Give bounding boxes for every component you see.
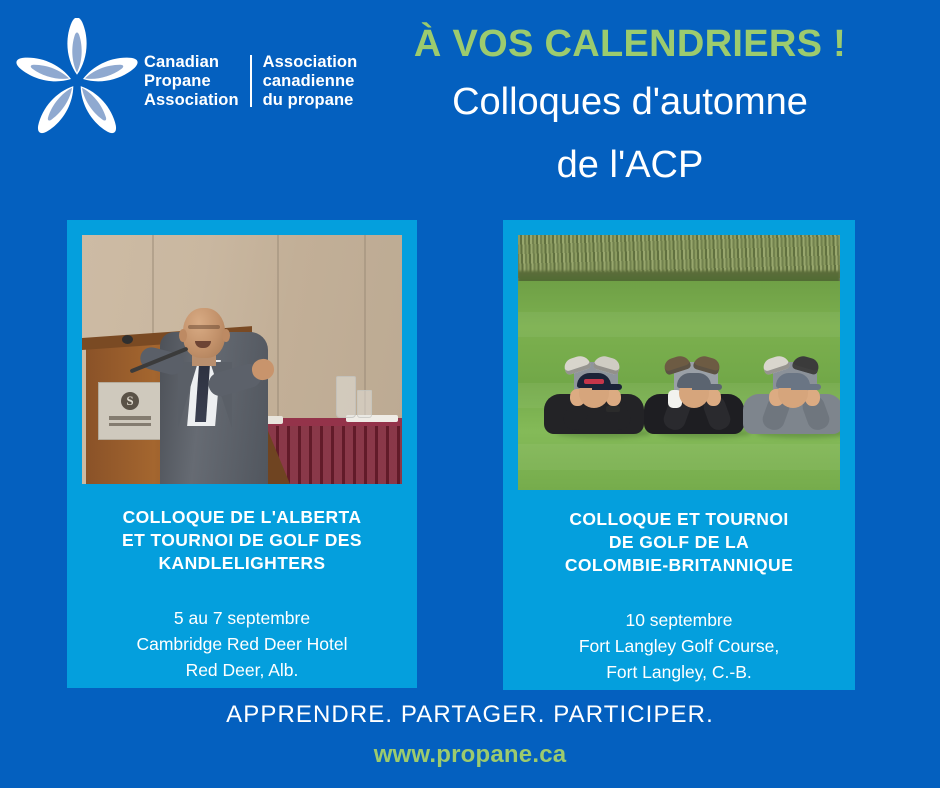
event-location: Fort Langley, C.-B. bbox=[522, 659, 836, 685]
wordmark-divider bbox=[250, 55, 252, 107]
event-location: Red Deer, Alb. bbox=[86, 657, 398, 683]
event-card-bc-details: 10 septembre Fort Langley Golf Course, F… bbox=[522, 607, 836, 685]
cpa-flower-logo-icon bbox=[14, 18, 140, 144]
event-date: 10 septembre bbox=[522, 607, 836, 633]
cpa-logo-block[interactable]: Canadian Propane Association Association… bbox=[14, 16, 324, 146]
event-venue: Fort Langley Golf Course, bbox=[522, 633, 836, 659]
event-date: 5 au 7 septembre bbox=[86, 605, 398, 631]
cpa-wordmark-en-line3: Association bbox=[144, 91, 239, 110]
cpa-wordmark-en-line1: Canadian bbox=[144, 53, 239, 72]
cpa-wordmark-en-line2: Propane bbox=[144, 72, 239, 91]
heading-line-1: COLLOQUE DE L'ALBERTA bbox=[86, 506, 398, 529]
footer-tagline: APPRENDRE. PARTAGER. PARTICIPER. bbox=[0, 700, 940, 730]
event-card-colombie-britannique[interactable]: COLLOQUE ET TOURNOI DE GOLF DE LA COLOMB… bbox=[503, 220, 855, 690]
headline-block: À VOS CALENDRIERS ! Colloques d'automne … bbox=[330, 22, 930, 192]
three-golfers-on-grass-photo bbox=[518, 235, 840, 490]
cpa-wordmark-english: Canadian Propane Association bbox=[144, 53, 239, 110]
footer-website-link[interactable]: www.propane.ca bbox=[374, 740, 567, 770]
event-card-alberta-details: 5 au 7 septembre Cambridge Red Deer Hote… bbox=[86, 605, 398, 683]
heading-line-3: KANDLELIGHTERS bbox=[86, 552, 398, 575]
event-card-alberta[interactable]: S COLLOQUE DE L'ALBERTA ET TOURNOI DE GO… bbox=[67, 220, 417, 688]
event-card-bc-heading: COLLOQUE ET TOURNOI DE GOLF DE LA COLOMB… bbox=[522, 508, 836, 577]
headline-title-line1: Colloques d'automne bbox=[330, 76, 930, 129]
header-banner: Canadian Propane Association Association… bbox=[0, 0, 940, 205]
headline-title-line2: de l'ACP bbox=[330, 139, 930, 192]
footer-block: APPRENDRE. PARTAGER. PARTICIPER. www.pro… bbox=[0, 700, 940, 770]
event-cards-container: S COLLOQUE DE L'ALBERTA ET TOURNOI DE GO… bbox=[0, 220, 940, 692]
event-venue: Cambridge Red Deer Hotel bbox=[86, 631, 398, 657]
heading-line-1: COLLOQUE ET TOURNOI bbox=[522, 508, 836, 531]
heading-line-2: ET TOURNOI DE GOLF DES bbox=[86, 529, 398, 552]
heading-line-2: DE GOLF DE LA bbox=[522, 531, 836, 554]
heading-line-3: COLOMBIE-BRITANNIQUE bbox=[522, 554, 836, 577]
cpa-wordmark: Canadian Propane Association Association… bbox=[144, 53, 357, 110]
speaker-at-podium-photo: S bbox=[82, 235, 402, 484]
headline-call-to-action: À VOS CALENDRIERS ! bbox=[330, 22, 930, 66]
event-card-alberta-heading: COLLOQUE DE L'ALBERTA ET TOURNOI DE GOLF… bbox=[86, 506, 398, 575]
